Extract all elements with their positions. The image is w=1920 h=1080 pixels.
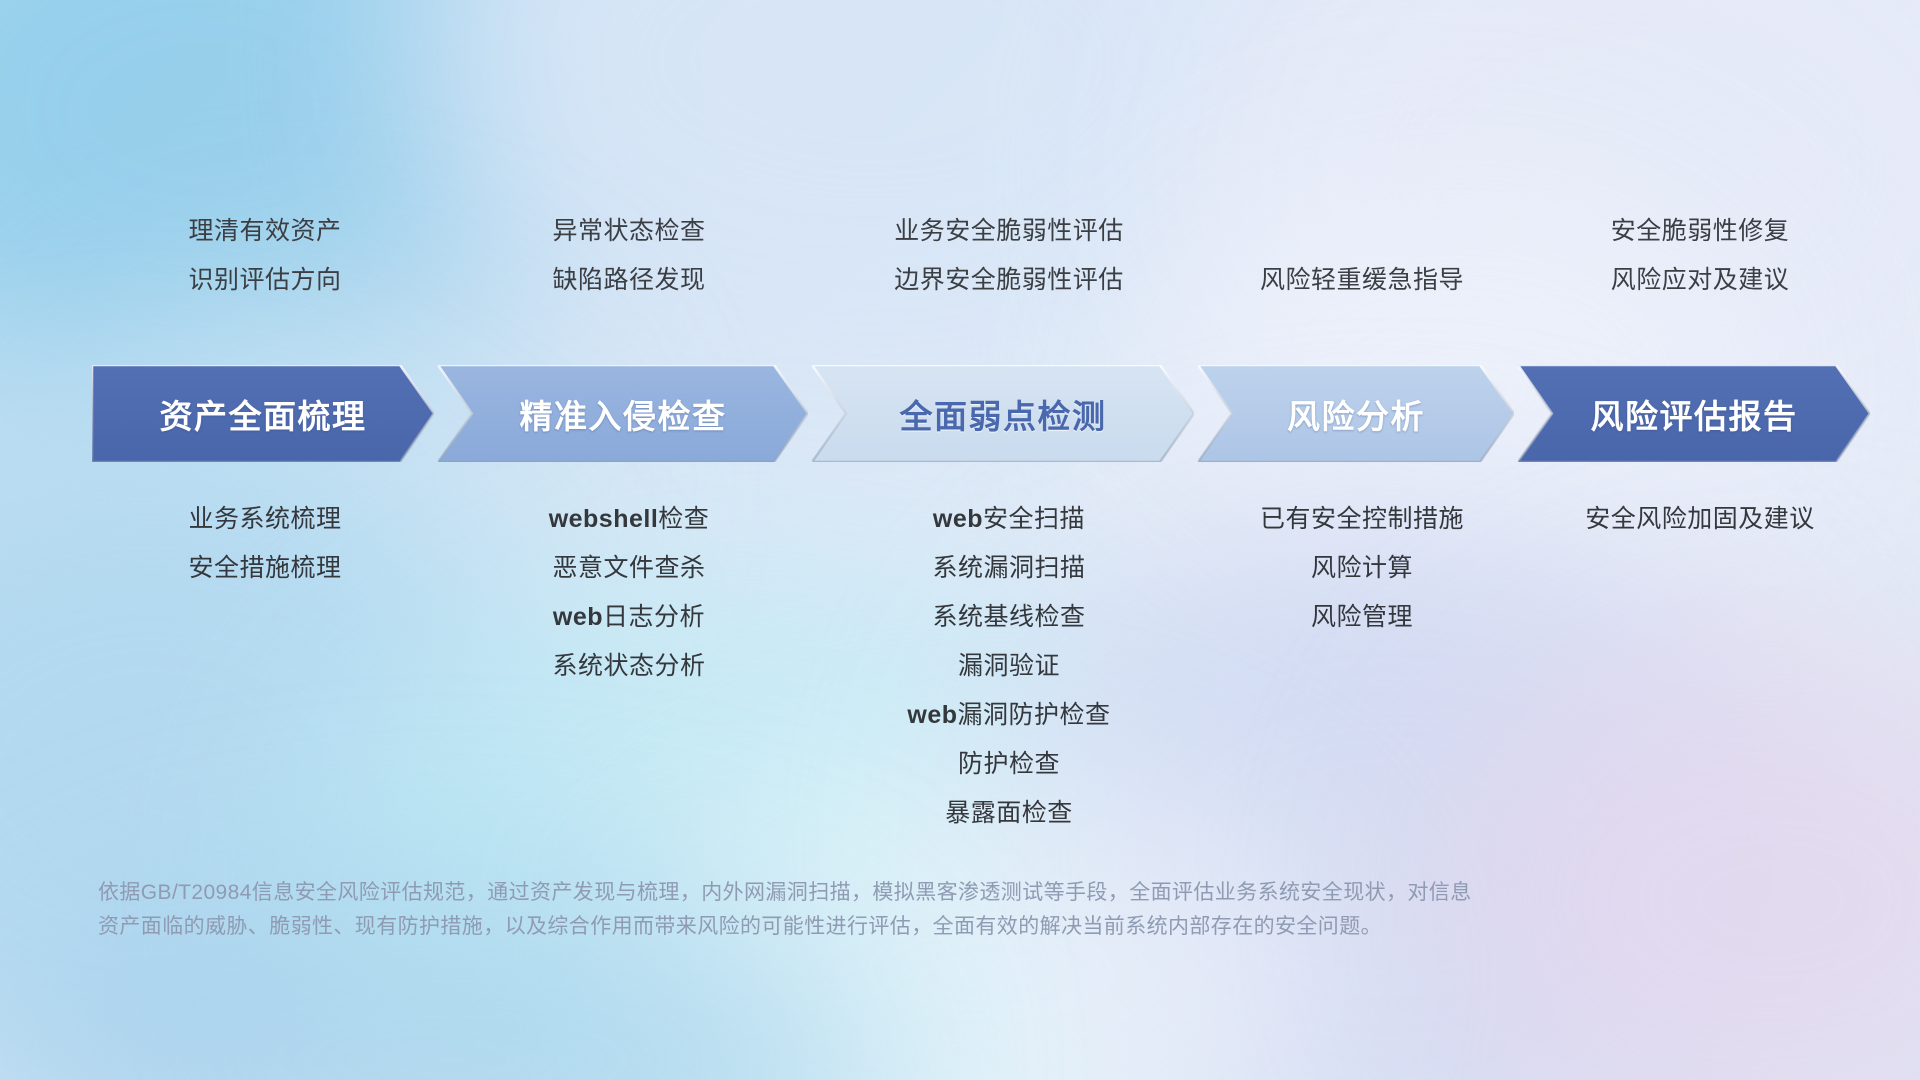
bottom-list-item: web漏洞防护检查 — [709, 691, 1309, 740]
process-step-asset-inventory[interactable]: 资产全面梳理 — [92, 365, 434, 462]
process-step-weakness-detection[interactable]: 全面弱点检测 — [812, 365, 1194, 462]
bottom-list-item: 安全风险加固及建议 — [1400, 495, 1920, 544]
process-arrow-banner: 资产全面梳理 精准入侵检查 全面弱点检测 — [92, 365, 1854, 462]
bottom-list-item: 风险管理 — [1062, 593, 1662, 642]
process-step-title: 风险分析 — [1287, 390, 1425, 438]
process-step-title: 全面弱点检测 — [900, 390, 1107, 438]
bottom-list-item: 防护检查 — [709, 740, 1309, 789]
process-step-risk-analysis[interactable]: 风险分析 — [1198, 365, 1514, 462]
process-diagram: 理清有效资产识别评估方向异常状态检查缺陷路径发现业务安全脆弱性评估边界安全脆弱性… — [0, 0, 1920, 1080]
footer-line-1: 依据GB/T20984信息安全风险评估规范，通过资产发现与梳理，内外网漏洞扫描，… — [98, 876, 1658, 910]
process-step-title: 资产全面梳理 — [160, 390, 367, 438]
process-step-title: 精准入侵检查 — [520, 390, 727, 438]
top-list-risk-report: 安全脆弱性修复风险应对及建议 — [1400, 207, 1920, 305]
bottom-list-item: 暴露面检查 — [709, 789, 1309, 838]
bottom-list-item: 漏洞验证 — [709, 642, 1309, 691]
process-step-title: 风险评估报告 — [1591, 390, 1798, 438]
footer-description: 依据GB/T20984信息安全风险评估规范，通过资产发现与梳理，内外网漏洞扫描，… — [98, 876, 1658, 944]
footer-line-2: 资产面临的威胁、脆弱性、现有防护措施，以及综合作用而带来风险的可能性进行评估，全… — [98, 910, 1658, 944]
bottom-list-item: 风险计算 — [1062, 544, 1662, 593]
bottom-list-risk-report: 安全风险加固及建议 — [1400, 495, 1920, 544]
process-step-intrusion-check[interactable]: 精准入侵检查 — [438, 365, 808, 462]
process-step-risk-report[interactable]: 风险评估报告 — [1518, 365, 1870, 462]
top-list-item: 安全脆弱性修复 — [1400, 207, 1920, 256]
top-list-item: 业务安全脆弱性评估 — [709, 207, 1309, 256]
top-list-item: 风险应对及建议 — [1400, 256, 1920, 305]
